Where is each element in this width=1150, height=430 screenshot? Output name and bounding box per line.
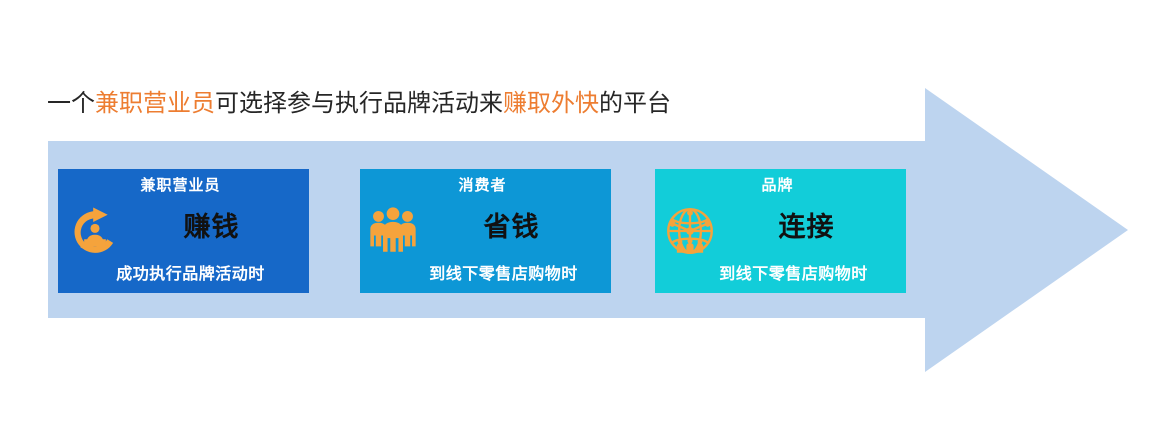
card-part-time-clerk[interactable]: 兼职营业员 赚钱 成功执行品牌活动时 (58, 169, 309, 293)
card-footer-label: 到线下零售店购物时 (402, 260, 605, 284)
group-of-people-icon (364, 201, 422, 259)
card-consumer[interactable]: 消费者 省钱 到线下零售店购物时 (360, 169, 611, 293)
card-heading: 消费者 (360, 174, 611, 195)
title-highlight-1: 兼职营业员 (95, 90, 215, 117)
card-brand[interactable]: 品牌 (655, 169, 906, 293)
card-heading: 品牌 (655, 174, 906, 195)
globe-network-people-icon (661, 202, 719, 260)
diagram-canvas: 一个兼职营业员可选择参与执行品牌活动来赚取外快的平台 兼职营业员 赚钱 成功执行… (0, 0, 1150, 430)
title-segment-1: 一个 (47, 90, 95, 117)
card-footer-label: 到线下零售店购物时 (687, 260, 900, 284)
card-main-label: 赚钱 (120, 205, 303, 244)
card-main-label: 省钱 (418, 205, 605, 244)
title-highlight-2: 赚取外快 (503, 90, 599, 117)
title-segment-3: 的平台 (599, 90, 671, 117)
title-segment-2: 可选择参与执行品牌活动来 (215, 90, 503, 117)
person-circular-arrow-icon (66, 203, 124, 261)
page-title: 一个兼职营业员可选择参与执行品牌活动来赚取外快的平台 (47, 88, 671, 120)
card-main-label: 连接 (713, 205, 900, 244)
card-heading: 兼职营业员 (58, 174, 309, 195)
card-footer-label: 成功执行品牌活动时 (80, 260, 301, 284)
